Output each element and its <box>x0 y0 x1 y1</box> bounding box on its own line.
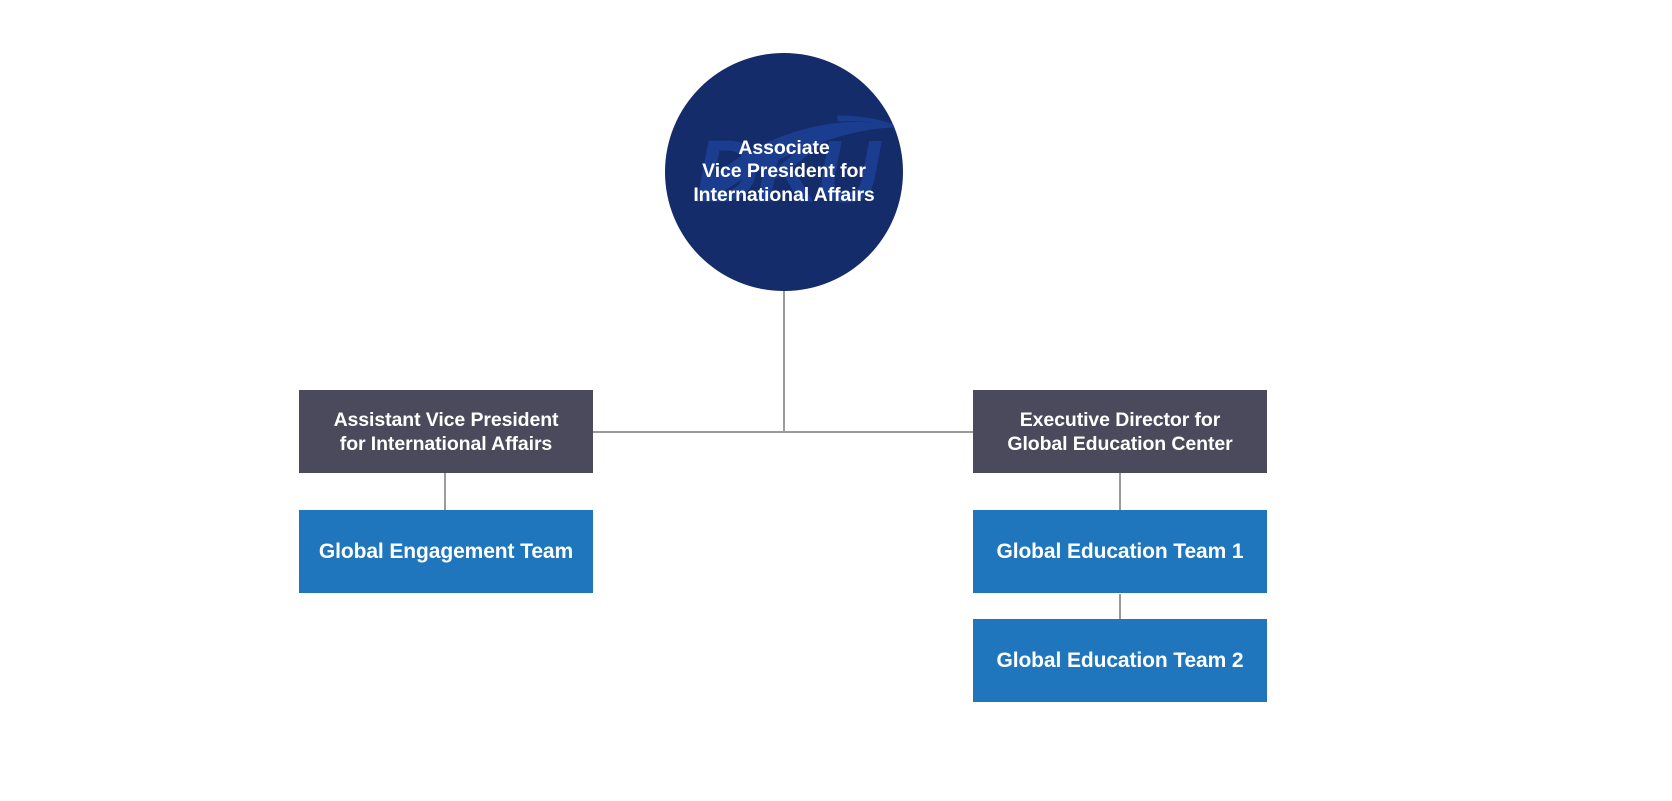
connector-root-trunk <box>783 288 785 433</box>
connector-manager-spine <box>592 431 974 433</box>
node-label: Global Engagement Team <box>319 539 573 564</box>
node-global-engagement-team[interactable]: Global Engagement Team <box>299 510 593 593</box>
node-executive-director[interactable]: Executive Director for Global Education … <box>973 390 1267 473</box>
org-chart: DKU Associate Vice President for Interna… <box>0 0 1672 801</box>
node-label: Associate Vice President for Internation… <box>693 137 874 208</box>
node-label: Global Education Team 1 <box>996 539 1243 564</box>
node-global-education-team-2[interactable]: Global Education Team 2 <box>973 619 1267 702</box>
node-label: Global Education Team 2 <box>996 648 1243 673</box>
node-assistant-vice-president[interactable]: Assistant Vice President for Internation… <box>299 390 593 473</box>
node-associate-vice-president[interactable]: DKU Associate Vice President for Interna… <box>665 53 903 291</box>
node-label: Executive Director for Global Education … <box>1007 408 1232 456</box>
connector-team1-to-team2 <box>1119 594 1121 620</box>
node-label: Assistant Vice President for Internation… <box>334 408 559 456</box>
node-global-education-team-1[interactable]: Global Education Team 1 <box>973 510 1267 593</box>
